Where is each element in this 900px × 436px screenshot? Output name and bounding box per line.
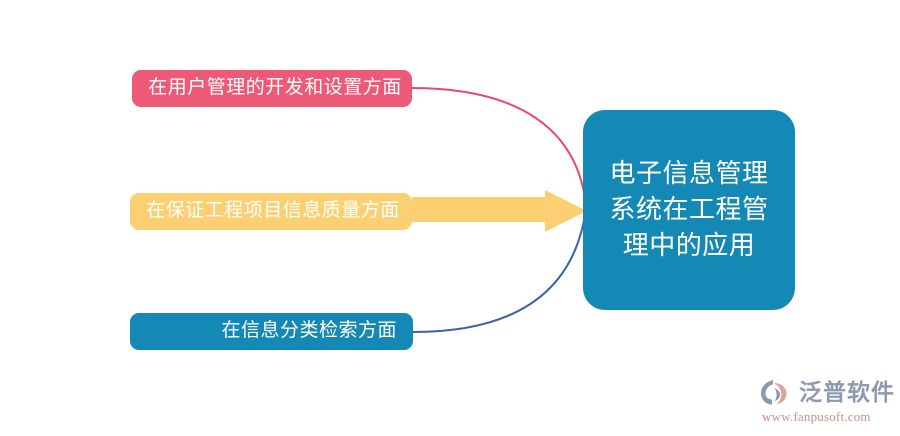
connector-curve-pink — [412, 88, 586, 206]
target-node-box[interactable]: 电子信息管理系统在工程管理中的应用 — [583, 110, 795, 310]
watermark: 泛普软件 www.fanpusoft.com — [760, 378, 895, 430]
diagram-canvas: 在用户管理的开发和设置方面 在保证工程项目信息质量方面 在信息分类检索方面 电子… — [0, 0, 900, 436]
watermark-brand: 泛普软件 — [799, 381, 895, 404]
watermark-url: www.fanpusoft.com — [762, 409, 871, 425]
watermark-top-row: 泛普软件 — [760, 378, 895, 406]
branch-box-info-retrieval[interactable]: 在信息分类检索方面 — [130, 313, 413, 350]
branch-label-project-quality: 在保证工程项目信息质量方面 — [130, 200, 412, 223]
branch-box-user-management[interactable]: 在用户管理的开发和设置方面 — [132, 70, 412, 107]
branch-label-user-management: 在用户管理的开发和设置方面 — [132, 77, 412, 100]
connector-arrow-yellow — [412, 190, 587, 232]
branch-label-info-retrieval: 在信息分类检索方面 — [130, 320, 413, 343]
target-node-label: 电子信息管理系统在工程管理中的应用 — [605, 156, 773, 264]
connector-curve-navy — [413, 208, 586, 332]
fanpu-logo-icon — [760, 378, 794, 406]
branch-box-project-quality[interactable]: 在保证工程项目信息质量方面 — [130, 193, 412, 230]
